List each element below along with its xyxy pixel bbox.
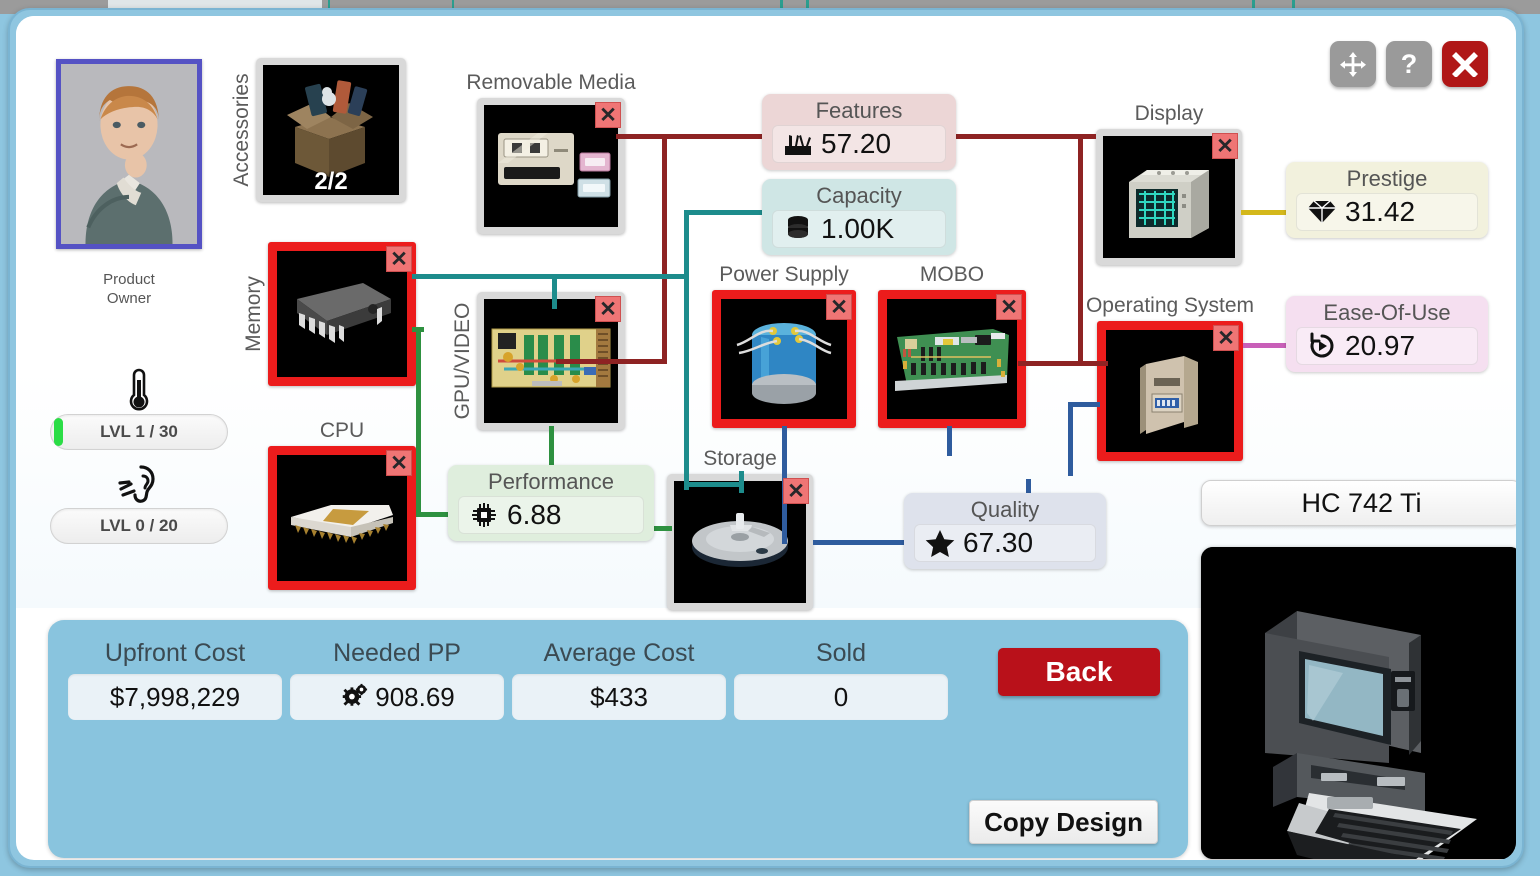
wire-features: [1078, 134, 1083, 366]
sound-gauge[interactable]: LVL 0 / 20: [50, 460, 228, 544]
diamond-icon: [1307, 197, 1337, 227]
field-average-cost-value-box: $433: [512, 674, 726, 720]
slot-label-display: Display: [1135, 102, 1204, 126]
wire-capacity: [552, 274, 557, 309]
slot-label-accessories: Accessories: [230, 73, 254, 186]
database-icon: [783, 214, 813, 244]
wire-features: [662, 134, 667, 364]
slot-removable-media[interactable]: Removable Media: [477, 98, 625, 234]
wire-capacity: [684, 210, 689, 490]
remove-mobo-button[interactable]: ✕: [996, 294, 1022, 320]
slot-operating-system[interactable]: Operating System: [1097, 321, 1243, 461]
gears-icon: [339, 682, 369, 712]
wire-quality: [1068, 402, 1100, 407]
wire-features: [556, 359, 666, 364]
wire-quality: [947, 426, 952, 456]
sound-gauge-bar: LVL 0 / 20: [50, 508, 228, 544]
heat-gauge-fill: [54, 418, 63, 446]
close-button[interactable]: [1442, 41, 1488, 87]
field-needed-pp-label: Needed PP: [290, 636, 504, 670]
product-designer-window: Product Owner LVL 1 / 30: [8, 8, 1524, 868]
remove-display-button[interactable]: ✕: [1212, 133, 1238, 159]
move-button[interactable]: [1330, 41, 1376, 87]
back-button[interactable]: Back: [998, 648, 1160, 696]
field-average-cost: Average Cost $433: [512, 636, 726, 720]
slot-label-storage: Storage: [703, 447, 777, 471]
stat-capacity-value: 1.00K: [821, 213, 894, 245]
slot-power-supply[interactable]: Power Supply: [712, 290, 856, 428]
field-average-cost-value: $433: [590, 682, 648, 713]
wire-capacity: [739, 471, 744, 493]
remove-operating-system-button[interactable]: ✕: [1213, 325, 1239, 351]
summary-fields: Upfront Cost $7,998,229 Needed PP: [68, 636, 948, 720]
owner-role-line-1: Product: [56, 270, 202, 289]
product-name-value: HC 742 Ti: [1301, 488, 1421, 519]
wire-capacity: [684, 482, 744, 487]
wire-quality: [1068, 471, 1073, 476]
wire-prestige: [1241, 210, 1289, 215]
accessories-count: 2/2: [314, 168, 347, 196]
slot-accessories[interactable]: Accessories: [256, 58, 406, 202]
copy-design-button[interactable]: Copy Design: [969, 800, 1158, 844]
stat-performance-value: 6.88: [507, 499, 562, 531]
stat-features-value-box: 57.20: [772, 125, 946, 163]
stat-capacity-value-box: 1.00K: [772, 210, 946, 248]
star-icon: [925, 528, 955, 558]
avatar[interactable]: [56, 59, 202, 249]
stat-ease-of-use-value: 20.97: [1345, 330, 1415, 362]
stat-ease-of-use-value-box: 20.97: [1296, 327, 1478, 365]
portable-computer-icon: [1201, 547, 1516, 859]
stat-features[interactable]: Features 57.20: [762, 94, 956, 170]
remove-memory-button[interactable]: ✕: [386, 246, 412, 272]
field-needed-pp-value-box: 908.69: [290, 674, 504, 720]
remove-power-supply-button[interactable]: ✕: [826, 294, 852, 320]
stat-performance-title: Performance: [458, 468, 644, 496]
processor-icon: [469, 500, 499, 530]
close-x-icon: [1452, 51, 1478, 77]
wire-features: [944, 134, 1096, 139]
wire-quality: [1068, 406, 1073, 476]
slot-memory[interactable]: Memory: [268, 242, 416, 386]
stat-quality-value-box: 67.30: [914, 524, 1096, 562]
summary-panel: Upfront Cost $7,998,229 Needed PP: [48, 620, 1188, 858]
wire-capacity: [684, 210, 764, 215]
stat-prestige-value-box: 31.42: [1296, 193, 1478, 231]
field-upfront-cost-label: Upfront Cost: [68, 636, 282, 670]
sound-gauge-label: LVL 0 / 20: [100, 516, 178, 536]
product-name-field[interactable]: HC 742 Ti: [1201, 480, 1516, 526]
stat-features-value: 57.20: [821, 128, 891, 160]
wire-ease-of-use: [1243, 343, 1291, 348]
remove-removable-media-button[interactable]: ✕: [595, 102, 621, 128]
wire-features: [616, 134, 766, 139]
stat-ease-of-use-title: Ease-Of-Use: [1296, 299, 1478, 327]
wire-performance: [416, 327, 421, 517]
owner-role-line-2: Owner: [56, 289, 202, 308]
design-canvas: Product Owner LVL 1 / 30: [16, 16, 1516, 608]
thermometer-icon: [50, 366, 228, 414]
heat-gauge-label: LVL 1 / 30: [100, 422, 178, 442]
stat-capacity[interactable]: Capacity 1.00K: [762, 179, 956, 255]
window-controls: ?: [1330, 41, 1488, 87]
stat-performance[interactable]: Performance 6.88: [448, 465, 654, 541]
field-upfront-cost-value-box: $7,998,229: [68, 674, 282, 720]
wire-capacity: [412, 274, 686, 279]
remove-storage-button[interactable]: ✕: [783, 478, 809, 504]
stat-capacity-title: Capacity: [772, 182, 946, 210]
field-upfront-cost-value: $7,998,229: [110, 682, 240, 713]
field-average-cost-label: Average Cost: [512, 636, 726, 670]
wire-features: [1018, 361, 1108, 366]
slot-label-power-supply: Power Supply: [719, 263, 849, 287]
field-sold-value: 0: [834, 682, 848, 713]
field-sold: Sold 0: [734, 636, 948, 720]
slot-display[interactable]: Display: [1096, 129, 1242, 265]
swiss-knife-icon: [783, 129, 813, 159]
wire-performance: [412, 327, 424, 332]
stat-prestige-value: 31.42: [1345, 196, 1415, 228]
slot-label-cpu: CPU: [320, 419, 364, 443]
question-mark-icon: ?: [1401, 51, 1418, 78]
owner-role-label: Product Owner: [56, 270, 202, 308]
stat-quality[interactable]: Quality 67.30: [904, 493, 1106, 569]
slot-cpu[interactable]: CPU: [268, 446, 416, 590]
stat-ease-of-use[interactable]: Ease-Of-Use 20.97: [1286, 296, 1488, 372]
field-sold-label: Sold: [734, 636, 948, 670]
stat-prestige[interactable]: Prestige 31.42: [1286, 162, 1488, 238]
refresh-clock-icon: [1307, 331, 1337, 361]
field-needed-pp: Needed PP: [290, 636, 504, 720]
slot-label-gpu-video: GPU/VIDEO: [451, 303, 475, 420]
move-arrows-icon: [1340, 51, 1366, 77]
stat-performance-value-box: 6.88: [458, 496, 644, 534]
slot-label-removable-media: Removable Media: [466, 71, 635, 95]
wire-quality: [813, 540, 909, 545]
stat-quality-title: Quality: [914, 496, 1096, 524]
remove-cpu-button[interactable]: ✕: [386, 450, 412, 476]
stat-features-title: Features: [772, 97, 946, 125]
stat-quality-value: 67.30: [963, 527, 1033, 559]
remove-gpu-video-button[interactable]: ✕: [595, 296, 621, 322]
stat-prestige-title: Prestige: [1296, 165, 1478, 193]
field-sold-value-box: 0: [734, 674, 948, 720]
field-needed-pp-value: 908.69: [375, 682, 455, 713]
field-upfront-cost: Upfront Cost $7,998,229: [68, 636, 282, 720]
slot-label-mobo: MOBO: [920, 263, 984, 287]
avatar-portrait-icon: [61, 64, 197, 244]
ear-hearing-icon: [50, 460, 228, 508]
heat-gauge-bar: LVL 1 / 30: [50, 414, 228, 450]
slot-label-memory: Memory: [242, 276, 266, 352]
slot-label-operating-system: Operating System: [1086, 294, 1254, 318]
help-button[interactable]: ?: [1386, 41, 1432, 87]
heat-gauge[interactable]: LVL 1 / 30: [50, 366, 228, 450]
product-preview: [1201, 547, 1516, 859]
slot-storage[interactable]: Storage: [667, 474, 813, 610]
slot-mobo[interactable]: MOBO: [878, 290, 1026, 428]
